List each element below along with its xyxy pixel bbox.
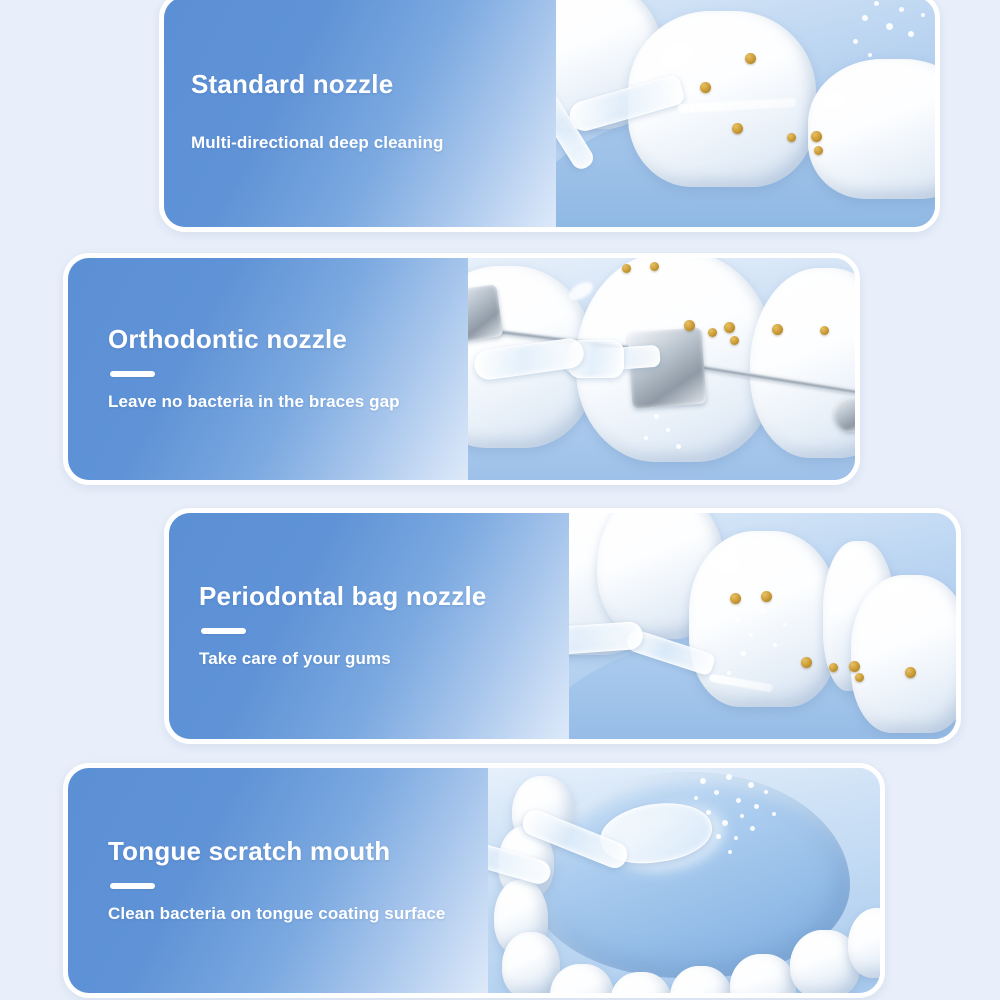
card-text-panel: Periodontal bag nozzle Take care of your… [169, 513, 569, 739]
spray-droplet [714, 790, 719, 795]
spray-droplet [761, 609, 765, 613]
spray-droplet [666, 428, 670, 432]
spray-droplet [694, 796, 698, 800]
spray-droplet [773, 643, 777, 647]
spray-droplet [899, 7, 904, 12]
tooth-right [808, 59, 935, 199]
card-text-panel: Tongue scratch mouth Clean bacteria on t… [68, 768, 488, 993]
spray-droplet [735, 617, 740, 622]
spray-droplet [644, 436, 648, 440]
plaque-dot [849, 661, 860, 672]
spray-droplet [734, 836, 738, 840]
spray-droplet [844, 555, 848, 559]
tooth-far-right [851, 575, 956, 733]
spray-droplet [722, 820, 728, 826]
plaque-dot [761, 591, 772, 602]
feature-card-orthodontic-nozzle[interactable]: Orthodontic nozzle Leave no bacteria in … [63, 253, 860, 485]
plaque-dot [732, 123, 743, 134]
spray-droplet [874, 1, 879, 6]
plaque-dot [787, 133, 796, 142]
spray-droplet [654, 414, 659, 419]
plaque-dot [684, 320, 695, 331]
plaque-dot [801, 657, 812, 668]
feature-card-standard-nozzle[interactable]: Standard nozzle Multi-directional deep c… [159, 0, 940, 232]
spray-droplet [726, 774, 732, 780]
plaque-dot [708, 328, 717, 337]
spray-droplet [748, 782, 754, 788]
spray-droplet [700, 778, 706, 784]
title-divider [201, 628, 246, 634]
feature-card-periodontal-bag-nozzle[interactable]: Periodontal bag nozzle Take care of your… [164, 508, 961, 744]
spray-droplet [921, 13, 925, 17]
card-subtitle: Take care of your gums [199, 648, 551, 669]
spray-droplet [728, 850, 732, 854]
card-title: Orthodontic nozzle [108, 325, 450, 355]
spray-droplet [676, 444, 681, 449]
spray-droplet [886, 23, 893, 30]
card-subtitle: Leave no bacteria in the braces gap [108, 391, 450, 412]
spray-droplet [741, 651, 746, 656]
card-title: Periodontal bag nozzle [199, 582, 551, 612]
spray-droplet [740, 814, 744, 818]
feature-card-tongue-scratch-mouth[interactable]: Tongue scratch mouth Clean bacteria on t… [63, 763, 885, 998]
spray-droplet [716, 834, 721, 839]
title-divider [110, 371, 155, 377]
card-text-panel: Standard nozzle Multi-directional deep c… [164, 0, 556, 227]
card-title: Standard nozzle [191, 70, 538, 100]
spray-droplet [862, 15, 868, 21]
card-photo-periodontal-nozzle [569, 513, 956, 739]
plaque-dot [730, 336, 739, 345]
spray-droplet [736, 798, 741, 803]
card-text-panel: Orthodontic nozzle Leave no bacteria in … [68, 258, 468, 480]
plaque-dot [650, 262, 659, 271]
spray-droplet [868, 53, 872, 57]
plaque-dot [905, 667, 916, 678]
card-photo-orthodontic-nozzle [468, 258, 855, 480]
spray-droplet [764, 790, 768, 794]
spray-droplet [706, 810, 711, 815]
plaque-dot [814, 146, 823, 155]
plaque-dot [772, 324, 783, 335]
plaque-dot [730, 593, 741, 604]
spray-droplet [727, 671, 731, 675]
card-subtitle: Multi-directional deep cleaning [191, 132, 538, 153]
spray-droplet [772, 812, 776, 816]
card-photo-standard-nozzle [556, 0, 935, 227]
plaque-dot [820, 326, 829, 335]
plaque-dot [622, 264, 631, 273]
plaque-dot [855, 673, 864, 682]
spray-droplet [749, 633, 753, 637]
spray-droplet [908, 31, 914, 37]
plaque-dot [811, 131, 822, 142]
title-divider [110, 883, 155, 889]
spray-droplet [783, 623, 786, 626]
card-title: Tongue scratch mouth [108, 837, 470, 867]
card-subtitle: Clean bacteria on tongue coating surface [108, 903, 470, 924]
spray-droplet [750, 826, 755, 831]
plaque-dot [700, 82, 711, 93]
card-photo-tongue-nozzle [488, 768, 880, 993]
spray-droplet [754, 804, 759, 809]
plaque-dot [829, 663, 838, 672]
tooth-right [750, 268, 855, 458]
plaque-dot [745, 53, 756, 64]
spray-droplet [853, 39, 858, 44]
product-feature-page: Standard nozzle Multi-directional deep c… [0, 0, 1000, 1000]
plaque-dot [724, 322, 735, 333]
